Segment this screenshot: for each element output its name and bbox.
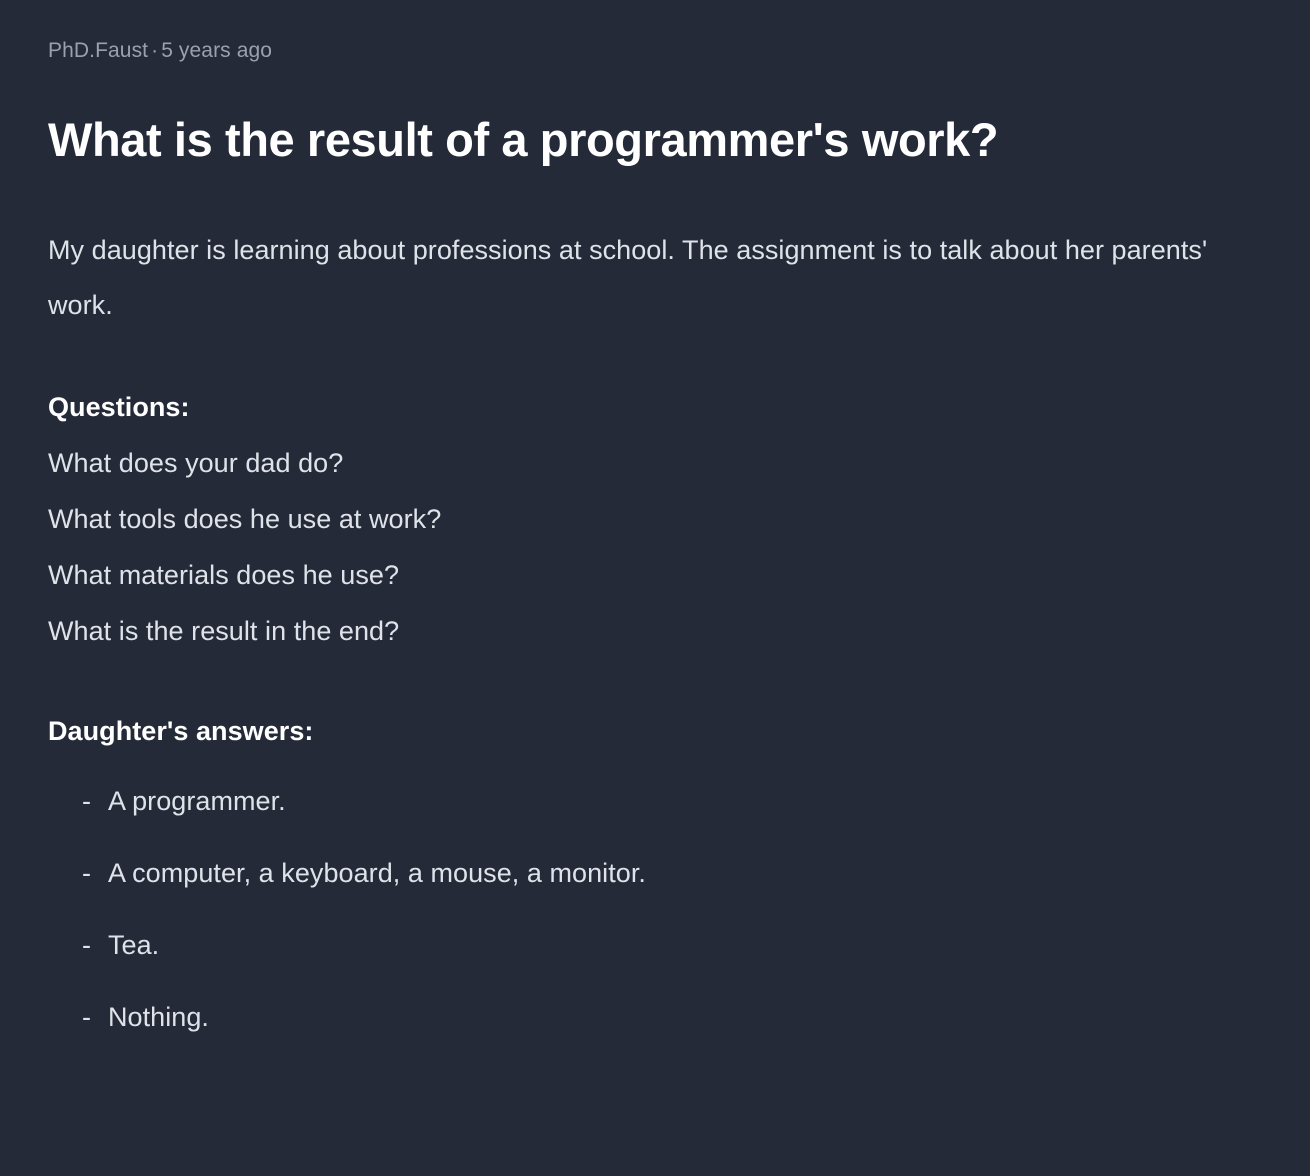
list-item: -Nothing. <box>48 997 1262 1037</box>
questions-heading: Questions: <box>48 379 1262 435</box>
page-title: What is the result of a programmer's wor… <box>48 109 1153 171</box>
dash-bullet-icon: - <box>82 997 91 1037</box>
list-item: -A computer, a keyboard, a mouse, a moni… <box>48 853 1262 893</box>
dash-bullet-icon: - <box>82 853 91 893</box>
question-line: What does your dad do? <box>48 435 1262 491</box>
post-intro-paragraph: My daughter is learning about profession… <box>48 223 1262 333</box>
answer-text: Nothing. <box>82 997 209 1037</box>
answer-text: A programmer. <box>82 781 286 821</box>
list-item: -A programmer. <box>48 781 1262 821</box>
dash-bullet-icon: - <box>82 925 91 965</box>
post-container: PhD.Faust·5 years ago What is the result… <box>0 0 1310 1176</box>
dash-bullet-icon: - <box>82 781 91 821</box>
questions-section: Questions: What does your dad do? What t… <box>48 379 1262 659</box>
question-line: What is the result in the end? <box>48 603 1262 659</box>
author-name[interactable]: PhD.Faust <box>48 39 148 62</box>
answers-section: Daughter's answers: -A programmer. -A co… <box>48 711 1262 1037</box>
answer-text: A computer, a keyboard, a mouse, a monit… <box>82 853 646 893</box>
byline-separator: · <box>148 39 161 62</box>
post-byline: PhD.Faust·5 years ago <box>48 36 1262 66</box>
answer-text: Tea. <box>82 925 159 965</box>
question-line: What materials does he use? <box>48 547 1262 603</box>
answers-heading: Daughter's answers: <box>48 711 1262 751</box>
question-line: What tools does he use at work? <box>48 491 1262 547</box>
post-timestamp: 5 years ago <box>161 39 272 62</box>
answers-list: -A programmer. -A computer, a keyboard, … <box>48 781 1262 1037</box>
list-item: -Tea. <box>48 925 1262 965</box>
